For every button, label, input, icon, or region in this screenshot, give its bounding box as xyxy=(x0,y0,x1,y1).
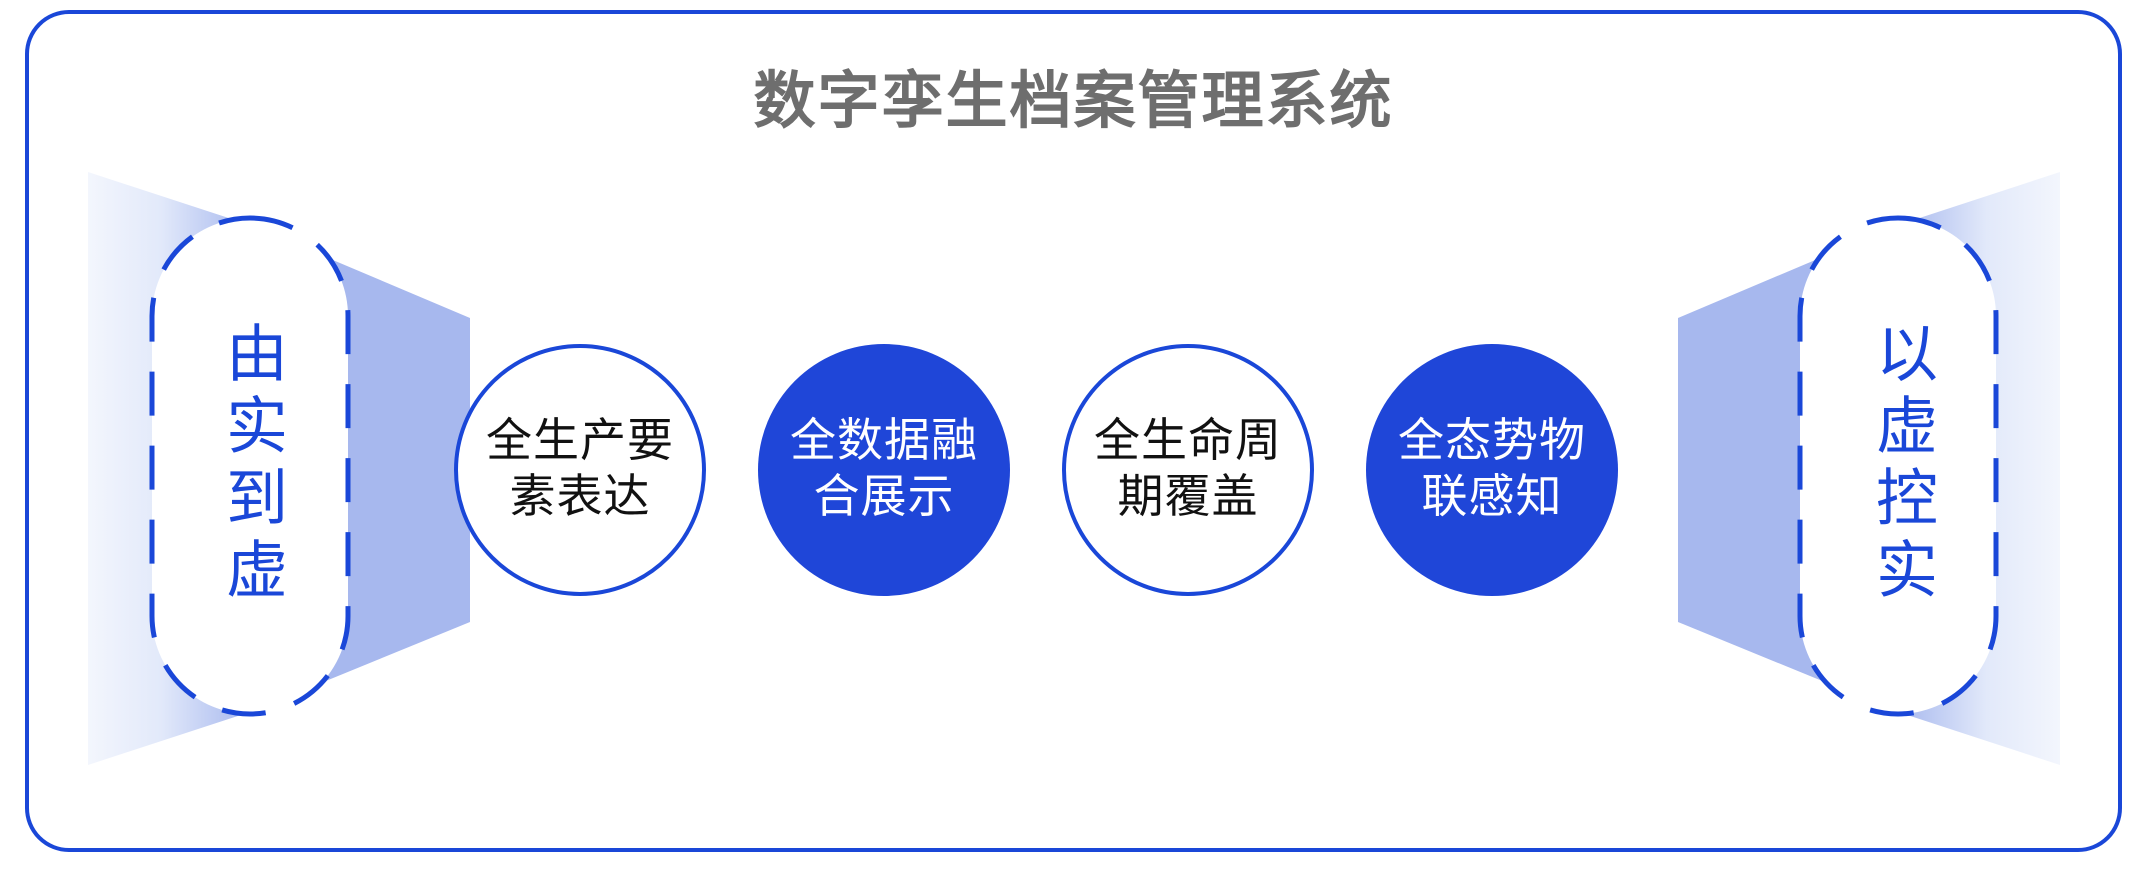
page-title: 数字孪生档案管理系统 xyxy=(0,68,2147,136)
circle-1-line2: 素表达 xyxy=(455,468,705,524)
circle-1-line1: 全生产要 xyxy=(455,412,705,468)
circle-1-label: 全生产要 素表达 xyxy=(455,412,705,524)
circle-3-line1: 全生命周 xyxy=(1063,412,1313,468)
circle-4-line1: 全态势物 xyxy=(1367,412,1617,468)
left-capsule[interactable]: 由实到虚 xyxy=(150,215,350,715)
circle-4-label: 全态势物 联感知 xyxy=(1367,412,1617,524)
circle-2-line2: 合展示 xyxy=(759,468,1009,524)
diagram-canvas: 数字孪生档案管理系统 由实到虚 以虚控实 全生产要 素表达 全数据融 合展示 全… xyxy=(0,0,2147,872)
circle-3-label: 全生命周 期覆盖 xyxy=(1063,412,1313,524)
circle-2-label: 全数据融 合展示 xyxy=(759,412,1009,524)
right-capsule[interactable]: 以虚控实 xyxy=(1800,215,2000,715)
circle-3-line2: 期覆盖 xyxy=(1063,468,1313,524)
circle-2-line1: 全数据融 xyxy=(759,412,1009,468)
left-capsule-label: 由实到虚 xyxy=(219,321,281,609)
right-capsule-label: 以虚控实 xyxy=(1869,321,1931,609)
circle-4-line2: 联感知 xyxy=(1367,468,1617,524)
